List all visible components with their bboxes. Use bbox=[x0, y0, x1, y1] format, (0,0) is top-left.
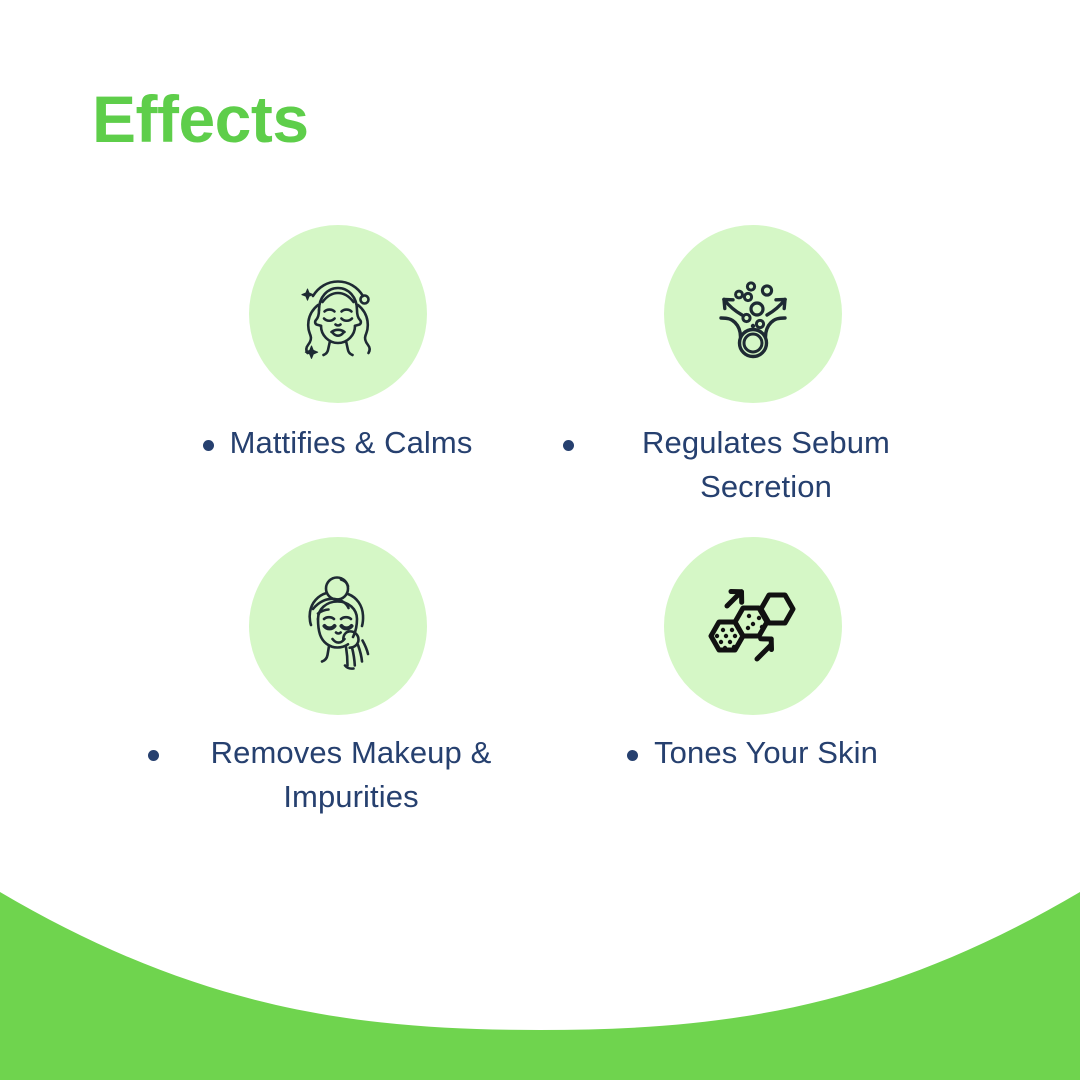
benefit-card-removes-makeup: Removes Makeup & Impurities bbox=[130, 537, 545, 819]
benefits-grid: Mattifies & Calms bbox=[130, 225, 960, 819]
bullet-icon bbox=[563, 440, 574, 451]
hexagon-skin-cells-arrows-icon bbox=[697, 570, 809, 682]
effects-poster: Effects bbox=[0, 0, 1080, 1080]
benefit-label: Mattifies & Calms bbox=[230, 421, 473, 465]
benefit-card-regulates-sebum: Regulates Sebum Secretion bbox=[545, 225, 960, 509]
benefit-label: Regulates Sebum Secretion bbox=[590, 421, 943, 509]
benefit-label: Tones Your Skin bbox=[654, 731, 878, 775]
icon-badge bbox=[249, 225, 427, 403]
icon-badge bbox=[664, 537, 842, 715]
benefit-label: Removes Makeup & Impurities bbox=[175, 731, 528, 819]
benefit-label-row: Regulates Sebum Secretion bbox=[563, 421, 943, 509]
page-title: Effects bbox=[92, 86, 309, 152]
pore-sebum-arrows-icon bbox=[697, 258, 809, 370]
benefit-card-mattifies-calms: Mattifies & Calms bbox=[130, 225, 545, 509]
benefit-label-row: Removes Makeup & Impurities bbox=[148, 731, 528, 819]
bullet-icon bbox=[203, 440, 214, 451]
bullet-icon bbox=[148, 750, 159, 761]
benefit-label-row: Tones Your Skin bbox=[627, 731, 878, 775]
icon-badge bbox=[249, 537, 427, 715]
woman-cotton-pad-cleansing-icon bbox=[282, 570, 394, 682]
bullet-icon bbox=[627, 750, 638, 761]
benefit-label-row: Mattifies & Calms bbox=[203, 421, 473, 465]
bottom-green-wave bbox=[0, 820, 1080, 1080]
icon-badge bbox=[664, 225, 842, 403]
woman-face-sparkles-icon bbox=[282, 258, 394, 370]
benefit-card-tones-skin: Tones Your Skin bbox=[545, 537, 960, 819]
